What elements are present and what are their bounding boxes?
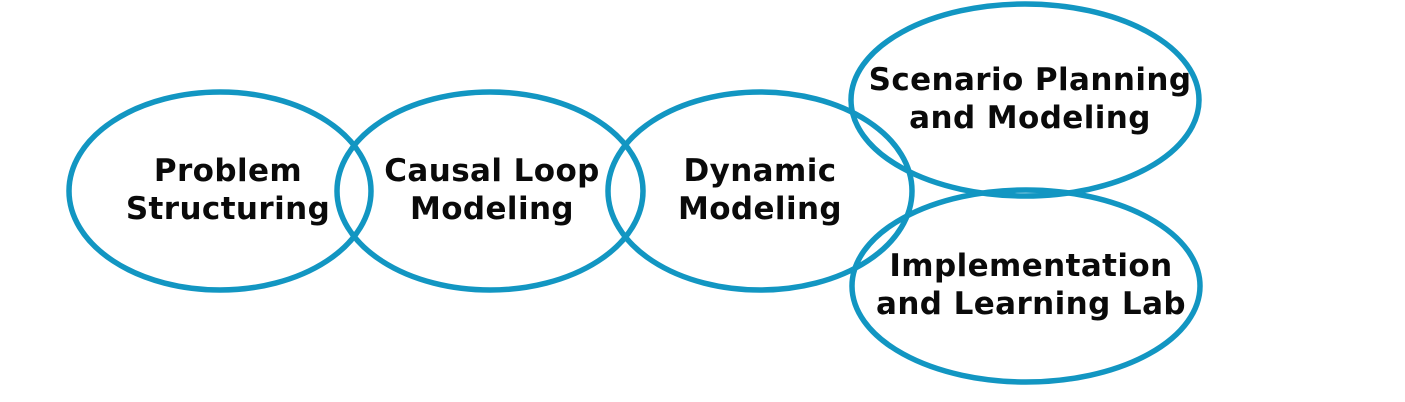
label-line: Modeling: [678, 191, 842, 227]
label-causal-loop-modeling: Causal LoopModeling: [384, 153, 599, 227]
label-problem-structuring: ProblemStructuring: [126, 153, 330, 227]
label-line: Structuring: [126, 191, 330, 227]
label-dynamic-modeling: DynamicModeling: [678, 153, 842, 227]
label-line: and Learning Lab: [876, 286, 1186, 322]
label-line: Scenario Planning: [869, 62, 1192, 98]
label-implementation-and-learning-lab: Implementationand Learning Lab: [876, 248, 1186, 322]
label-line: Causal Loop: [384, 153, 599, 189]
label-line: Problem: [154, 153, 302, 189]
label-line: and Modeling: [909, 100, 1151, 136]
label-line: Modeling: [410, 191, 574, 227]
venn-diagram: ProblemStructuring Causal LoopModeling D…: [0, 0, 1405, 402]
label-scenario-planning-and-modeling: Scenario Planningand Modeling: [869, 62, 1192, 136]
label-line: Dynamic: [683, 153, 836, 189]
diagram-canvas: ProblemStructuring Causal LoopModeling D…: [0, 0, 1405, 402]
label-line: Implementation: [889, 248, 1172, 284]
